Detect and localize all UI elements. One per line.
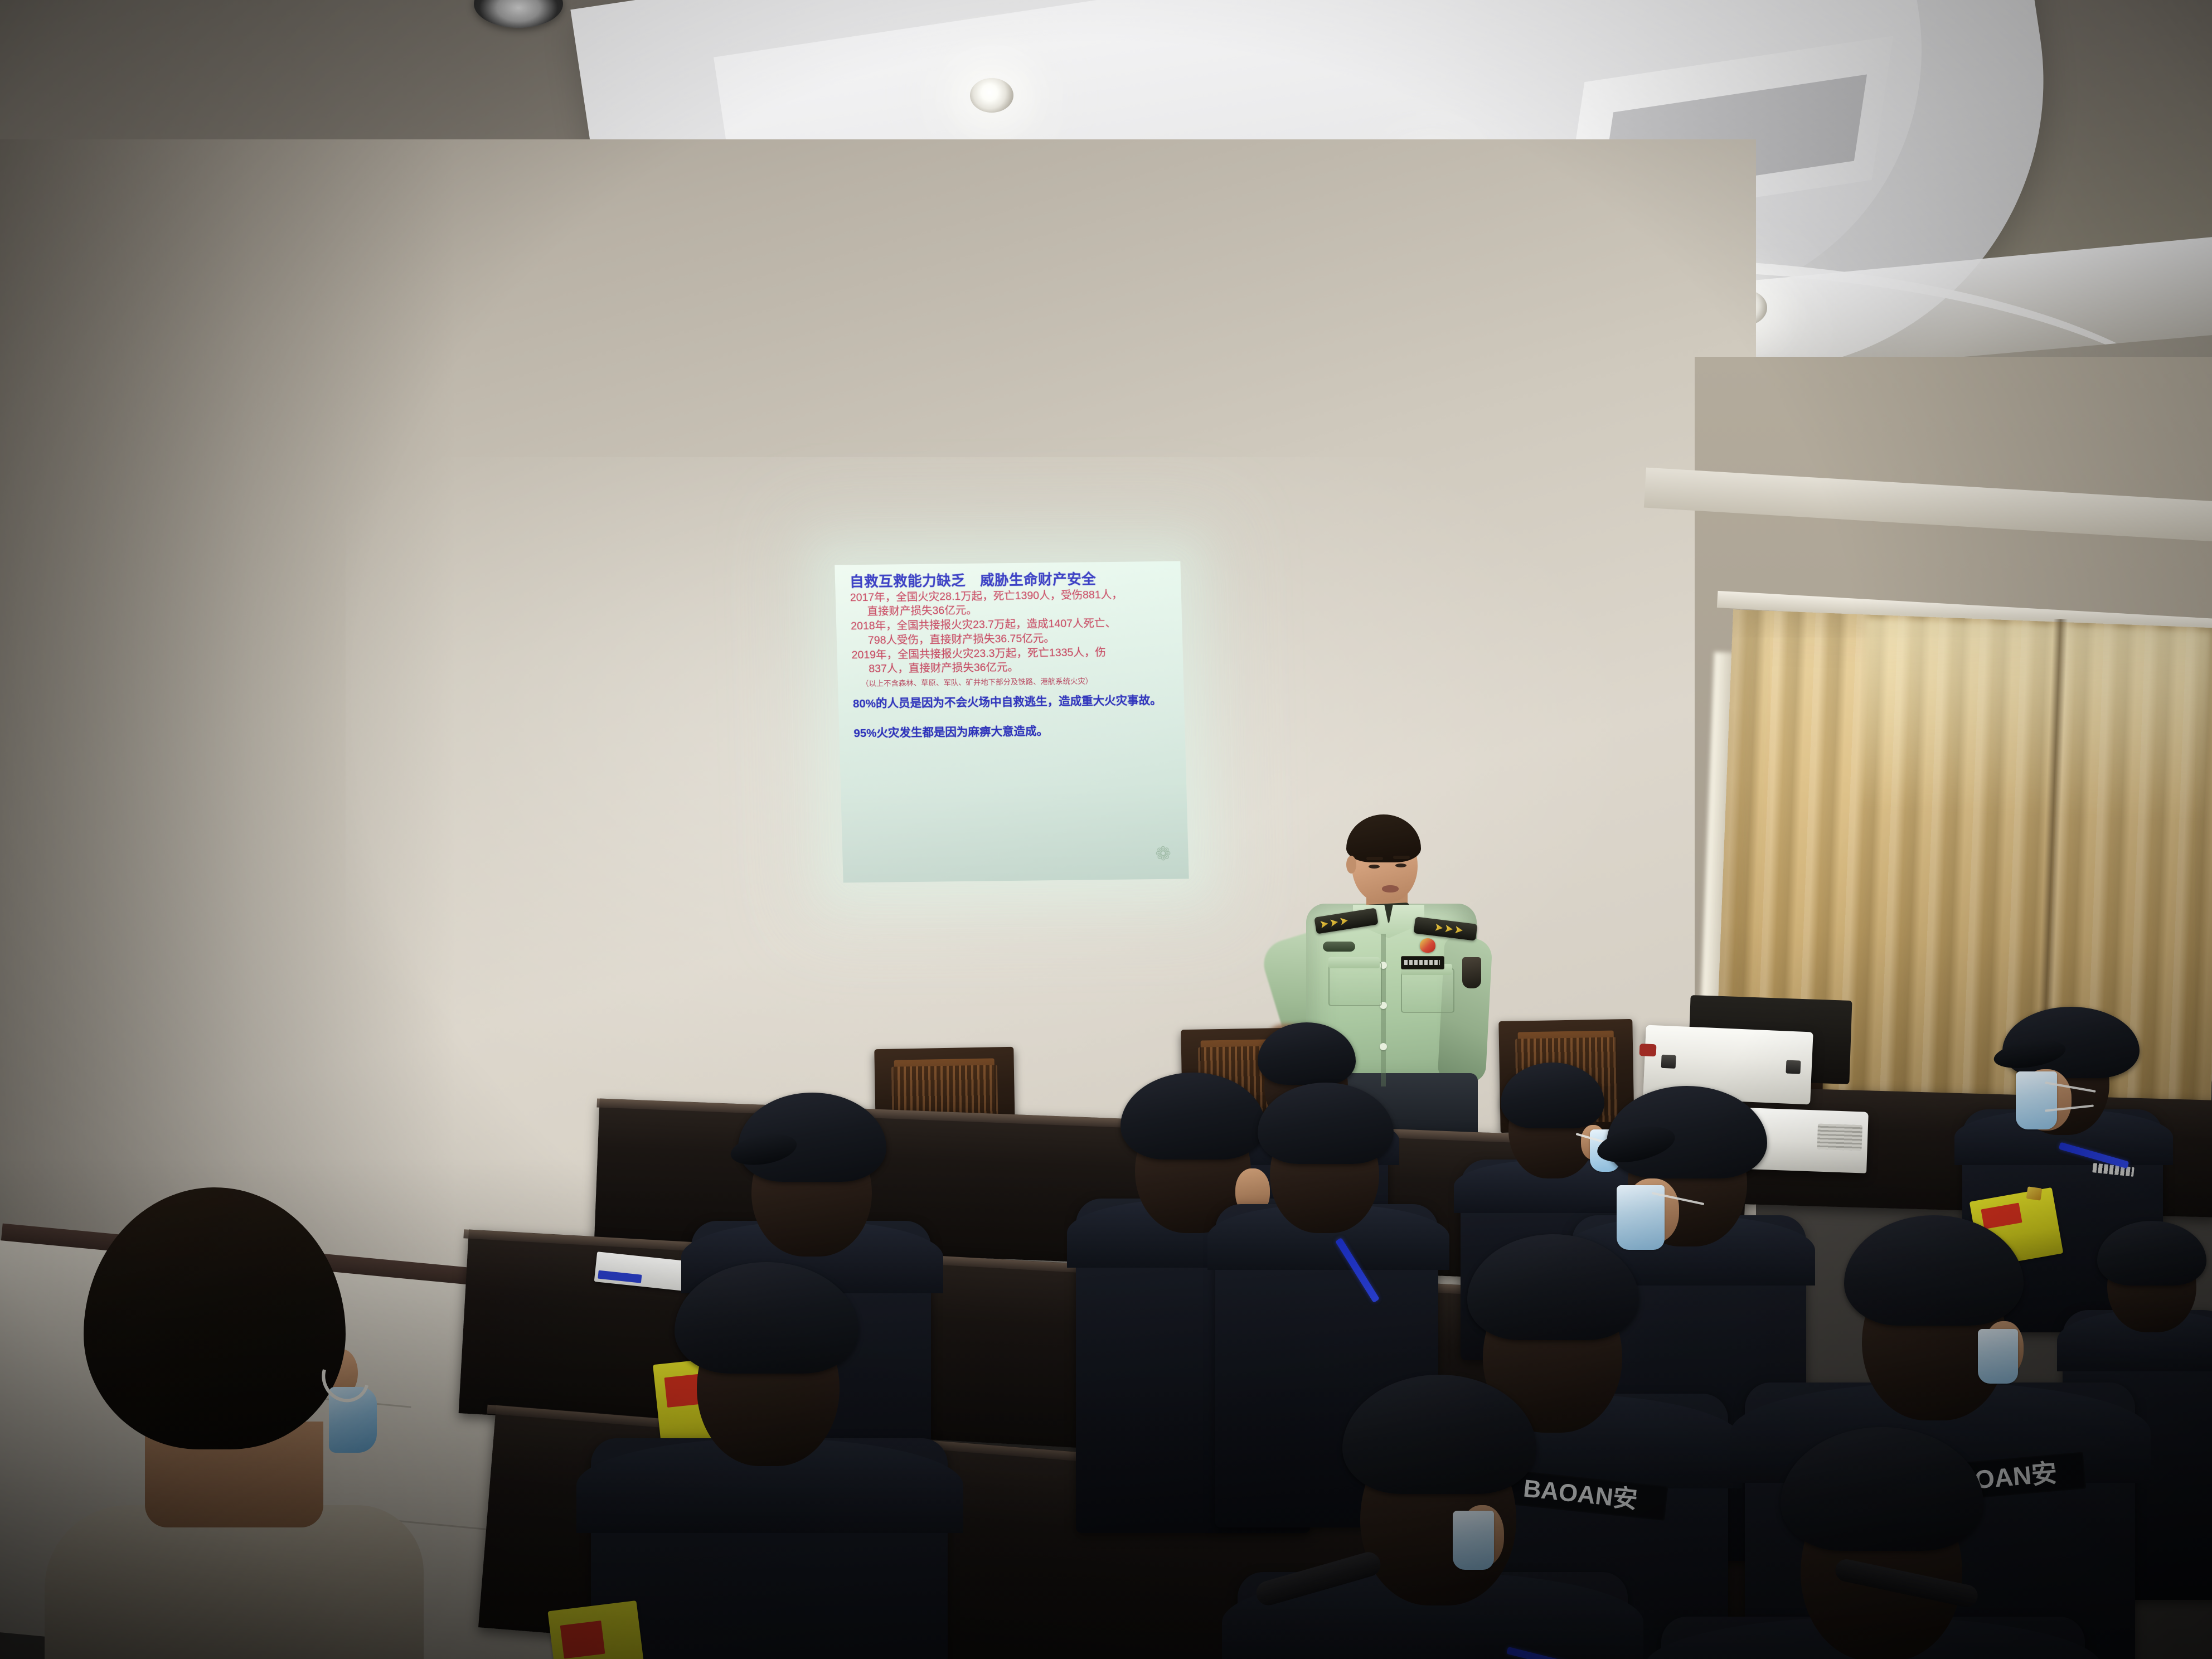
wall-shadow-left — [0, 139, 457, 1310]
presenter-nameplate — [1401, 956, 1444, 969]
stat-2017-line1: 2017年，全国火灾28.1万起，死亡1390人，受伤881人， — [850, 588, 1123, 604]
slide-highlight-80: 80%的人员是因为不会火场中自救逃生，造成重大火灾事故。 — [853, 693, 1181, 712]
presenter-mouth — [1382, 885, 1399, 892]
presenter-ear — [1346, 856, 1356, 874]
slide-stat-2018: 2018年，全国共接报火灾23.7万起，造成1407人死亡、 798人受伤，直接… — [851, 616, 1179, 648]
presenter-right-pocket — [1401, 968, 1454, 1013]
ceiling-downlight-1 — [970, 78, 1013, 113]
slide-watermark-icon: ❁ — [1150, 841, 1176, 867]
front-attendee-hair — [84, 1187, 346, 1449]
presenter-sleeve-patch-icon — [1462, 957, 1481, 988]
projection-screen: 自救互救能力缺乏威胁生命财产安全 2017年，全国火灾28.1万起，死亡1390… — [835, 561, 1189, 883]
slide-stat-2017: 2017年，全国火灾28.1万起，死亡1390人，受伤881人， 直接财产损失3… — [850, 587, 1178, 619]
slide-highlight-95: 95%火灾发生都是因为麻痹大意造成。 — [853, 723, 1182, 741]
conference-room-scene: 自救互救能力缺乏威胁生命财产安全 2017年，全国火灾28.1万起，死亡1390… — [0, 0, 2212, 1659]
presenter-wing-insignia-icon — [1323, 942, 1355, 952]
slide-title-right: 威胁生命财产安全 — [980, 571, 1097, 588]
presenter-left-pocket — [1328, 962, 1382, 1006]
presenter-flag-badge-icon — [1420, 938, 1435, 953]
presenter-hair — [1346, 814, 1421, 862]
stat-2019-line2: 837人，直接财产损失36亿元。 — [852, 659, 1180, 677]
guard-armband-front-left — [547, 1600, 649, 1659]
slide-footnote: （以上不含森林、草原、军队、矿井地下部分及铁路、港航系统火灾） — [852, 676, 1180, 688]
projector-vent — [1817, 1124, 1862, 1151]
stat-2018-line1: 2018年，全国共接报火灾23.7万起，造成1407人死亡、 — [851, 617, 1116, 632]
presenter-left-pocket-flap — [1328, 957, 1380, 968]
front-attendee — [33, 1187, 446, 1659]
front-attendee-shirt — [45, 1505, 424, 1659]
curtain-highlight — [1859, 618, 2211, 821]
slide-title-left: 自救互救能力缺乏 — [850, 573, 966, 590]
slide-stat-2019: 2019年，全国共接报火灾23.3万起，死亡1335人，伤 837人，直接财产损… — [851, 645, 1180, 677]
stat-2019-line1: 2019年，全国共接报火灾23.3万起，死亡1335人，伤 — [851, 646, 1106, 661]
presenter-shirt-placket — [1381, 934, 1386, 1086]
